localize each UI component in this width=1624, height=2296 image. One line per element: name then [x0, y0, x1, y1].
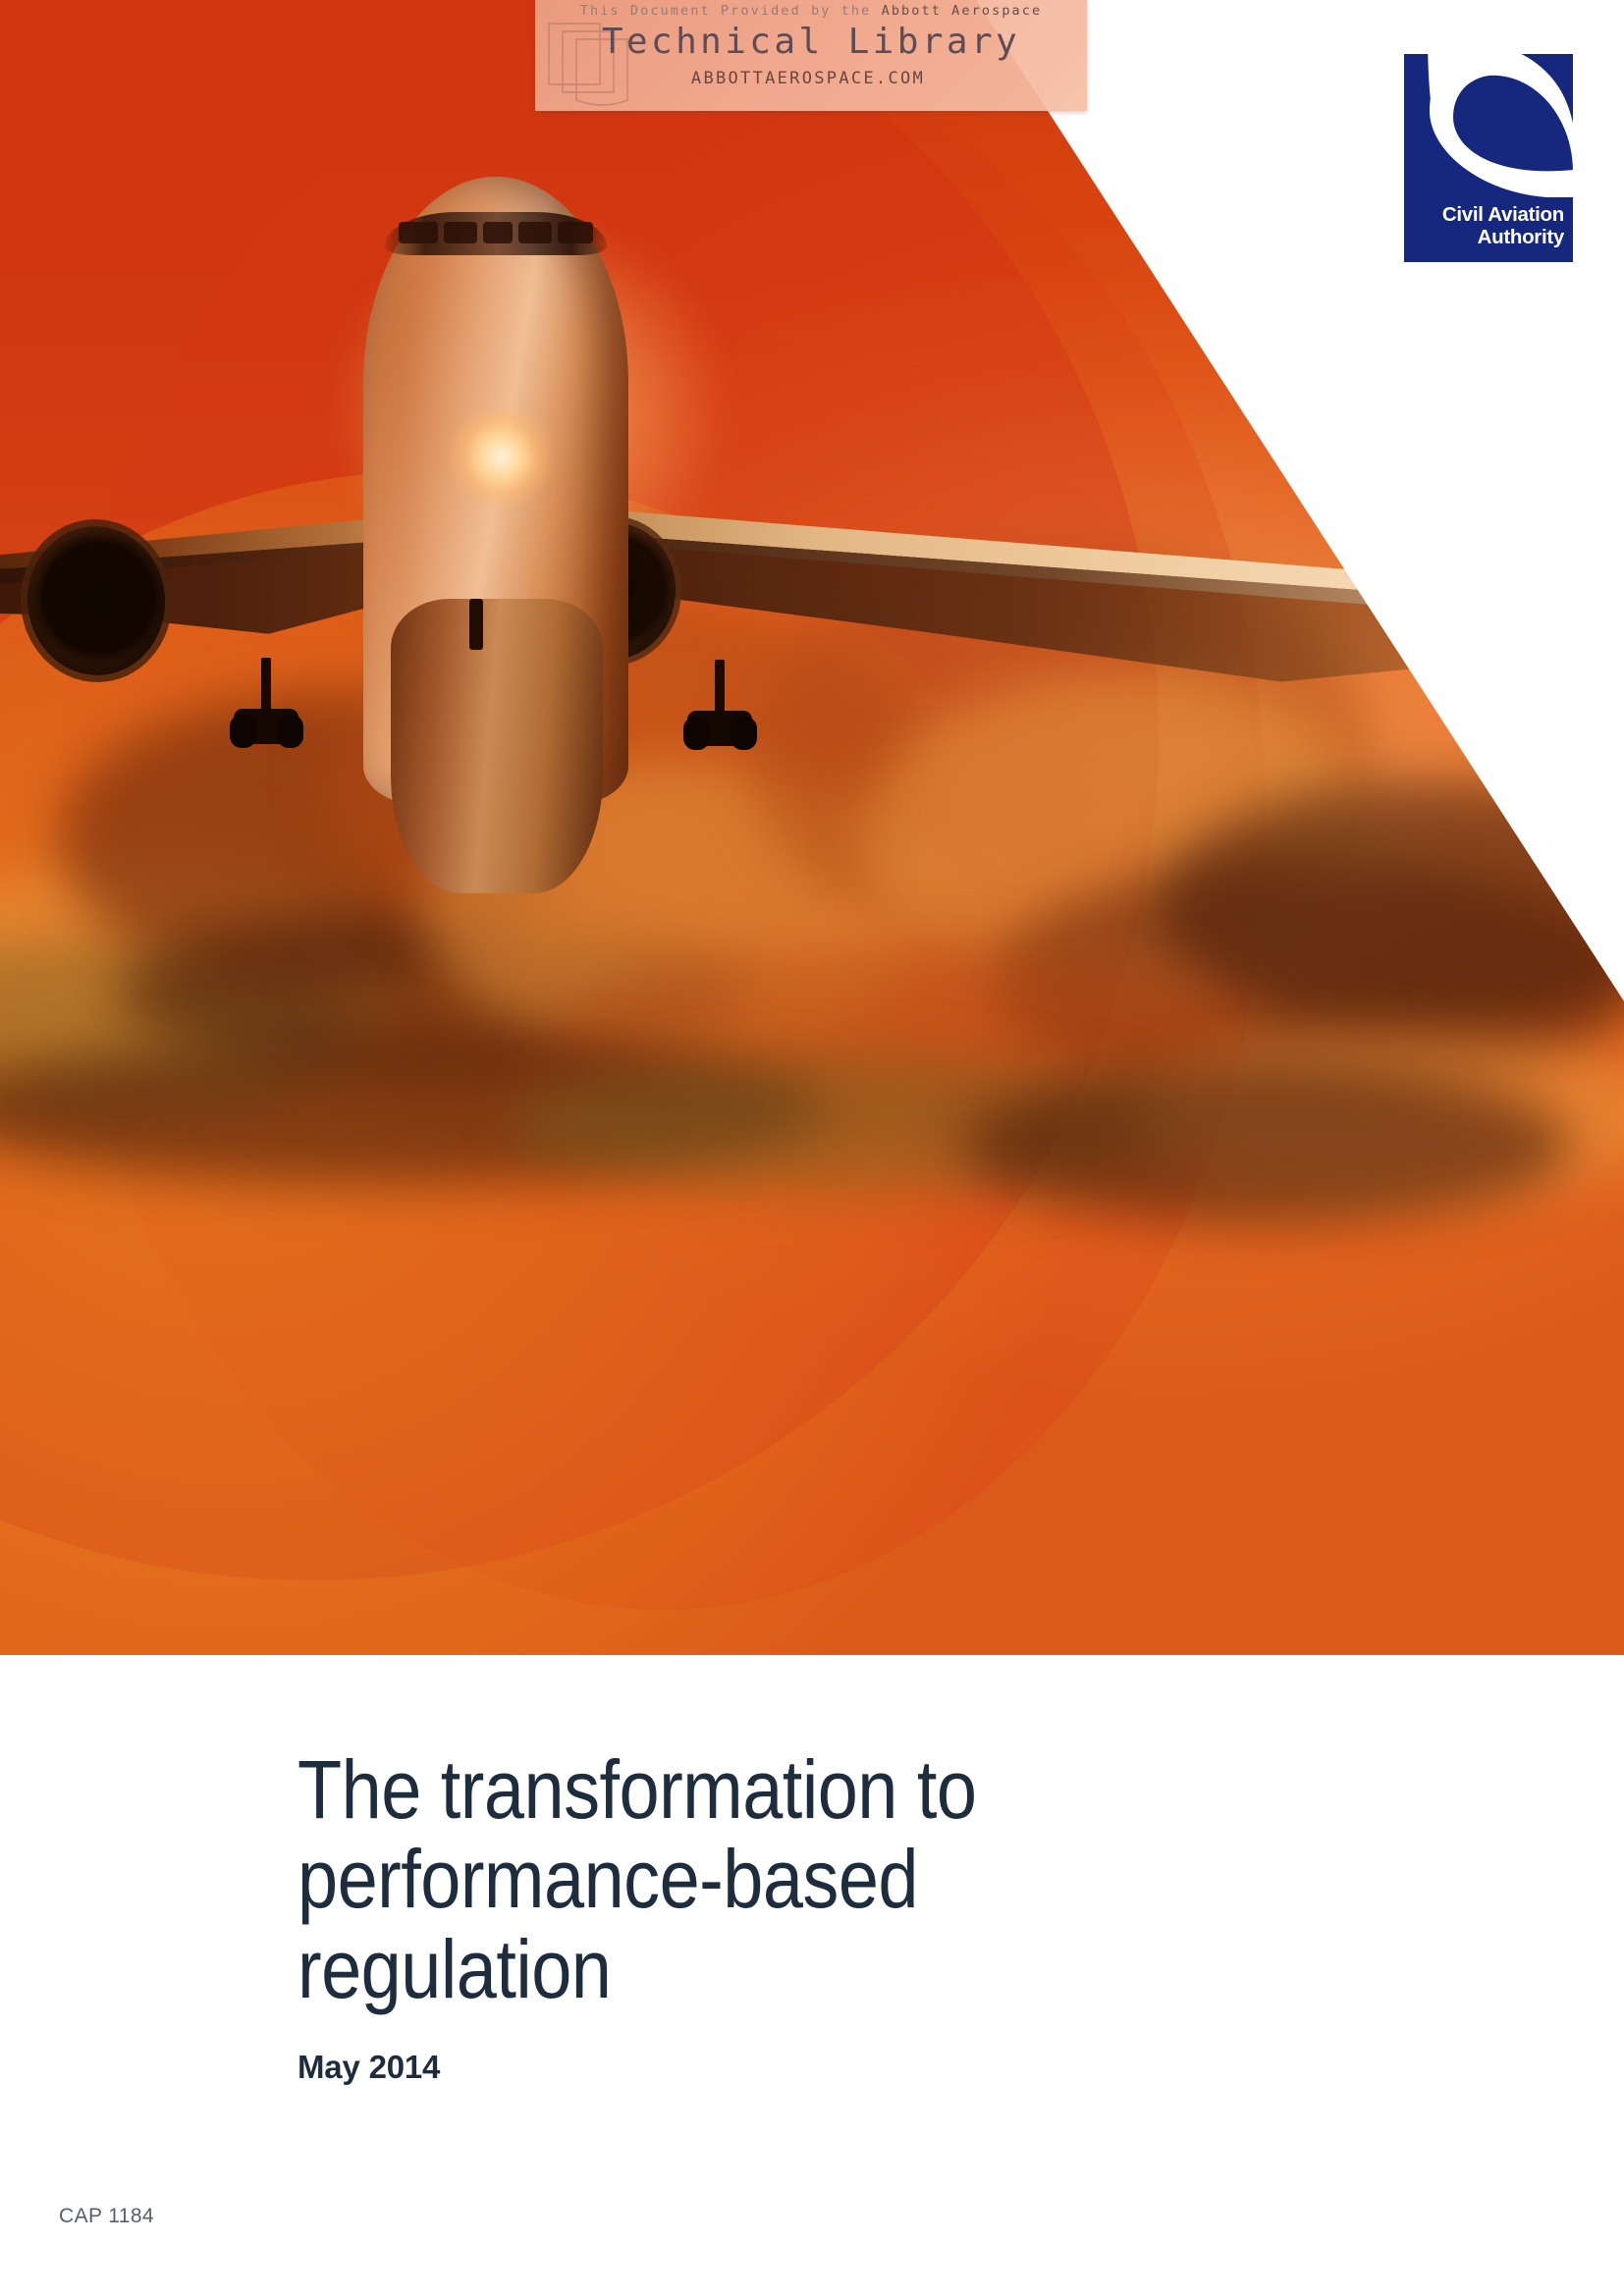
- cap-number-label: CAP 1184: [59, 2205, 154, 2228]
- watermark-line-2: Technical Library: [535, 22, 1087, 62]
- watermark-prefix: This Document Provided by the: [580, 3, 872, 19]
- cover-hero-image: This Document Provided by the Abbott Aer…: [0, 0, 1624, 1655]
- watermark-line-1: This Document Provided by the Abbott Aer…: [535, 3, 1087, 19]
- watermark-line-3: ABBOTTAEROSPACE.COM: [535, 69, 1081, 88]
- caa-logo-line-1: Civil Aviation: [1404, 204, 1564, 227]
- watermark-brand: Abbott Aerospace: [882, 3, 1043, 19]
- caa-logo-line-2: Authority: [1404, 227, 1564, 249]
- aircraft-cockpit-windows: [385, 212, 607, 255]
- aircraft-belly: [391, 599, 603, 893]
- civil-aviation-authority-logo: Civil Aviation Authority: [1404, 54, 1573, 262]
- aircraft-landing-light: [447, 402, 555, 510]
- page-title: The transformation to performance-based …: [298, 1745, 1196, 2013]
- abbott-aerospace-watermark: This Document Provided by the Abbott Aer…: [535, 0, 1087, 111]
- crescent-c-icon: [1404, 54, 1573, 197]
- cover-text-section: The transformation to performance-based …: [0, 1655, 1624, 2296]
- aircraft-nose-gear: [469, 599, 483, 650]
- caa-logo-text: Civil Aviation Authority: [1404, 204, 1564, 249]
- publication-date: May 2014: [298, 2049, 440, 2086]
